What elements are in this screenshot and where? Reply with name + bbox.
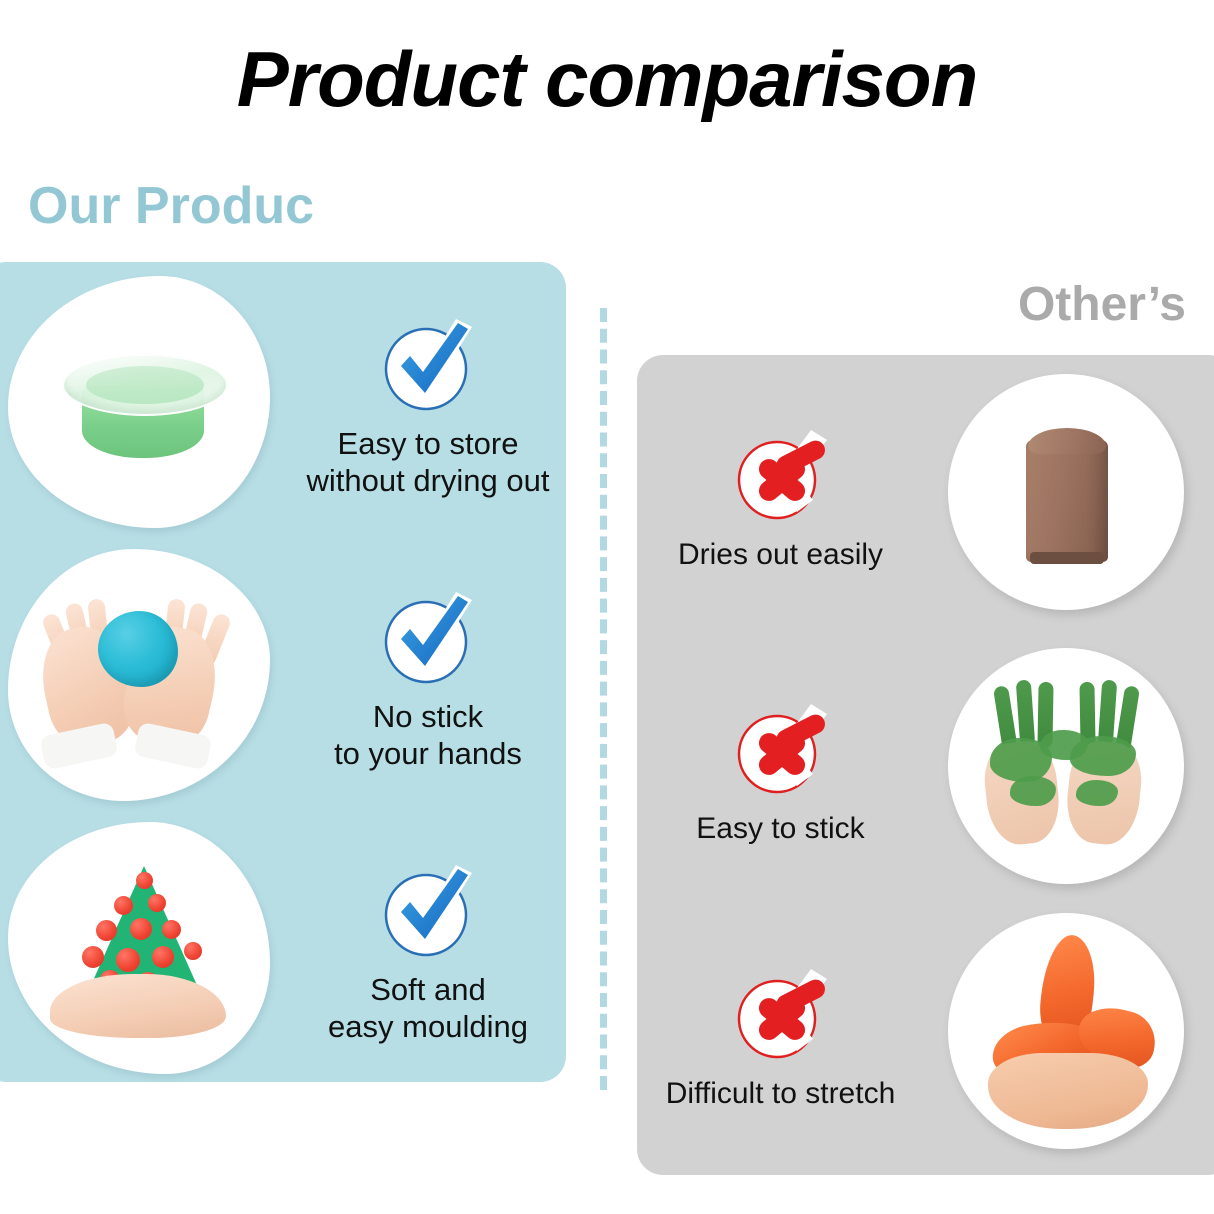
brown-clay-bag-illustration (1026, 422, 1108, 566)
blue-clay-ball (98, 611, 178, 687)
clay-christmas-tree-illustration (44, 858, 234, 1038)
others-heading: Other’s (1018, 277, 1186, 333)
our-feature-image-1 (0, 272, 290, 532)
hand (988, 1053, 1148, 1129)
our-feature-row: Soft and easy moulding (0, 818, 566, 1078)
white-circle-frame (948, 374, 1184, 610)
other-feature-row: Dries out easily (637, 366, 1214, 622)
other-feature-row: Easy to stick (637, 640, 1214, 896)
our-feature-text-3: Soft and easy moulding (290, 851, 566, 1045)
dashed-divider (600, 308, 607, 1090)
clay-smear (1076, 780, 1118, 806)
bauble (148, 894, 166, 912)
our-product-heading: Our Produc (28, 176, 314, 236)
other-feature-image-3 (924, 903, 1214, 1163)
our-feature-text-2: No stick to your hands (290, 578, 566, 772)
clay-smear (1010, 776, 1056, 806)
bauble (96, 920, 117, 941)
bauble (152, 946, 174, 968)
hands-with-blue-clay-illustration (36, 597, 236, 761)
page-title: Product comparison (0, 36, 1214, 122)
bauble (116, 948, 140, 972)
clay-smear (1040, 730, 1088, 760)
bauble (82, 946, 104, 968)
finger (1016, 680, 1036, 747)
our-feature-image-2 (0, 545, 290, 805)
other-feature-text-2: Easy to stick (637, 690, 924, 847)
other-feature-text-1: Dries out easily (637, 416, 924, 573)
check-icon (374, 857, 482, 961)
bag-base (1030, 552, 1104, 564)
bag-top (1028, 428, 1106, 454)
other-feature-row: Difficult to stretch (637, 905, 1214, 1161)
check-icon (374, 584, 482, 688)
green-container-illustration (62, 346, 224, 464)
caption-text: Difficult to stretch (666, 1075, 896, 1112)
caption-text: Easy to store without drying out (307, 425, 550, 499)
sticky-green-hands-illustration (980, 680, 1154, 856)
cross-icon (727, 961, 835, 1065)
white-circle-frame (948, 648, 1184, 884)
cross-icon (727, 422, 835, 526)
bauble (136, 872, 153, 889)
bauble (184, 942, 202, 960)
product-comparison-infographic: Product comparison Our Produc Other’s (0, 0, 1214, 1214)
our-feature-row: Easy to store without drying out (0, 272, 566, 532)
our-feature-image-3 (0, 818, 290, 1078)
orange-clay-stretch-illustration (974, 935, 1162, 1131)
bag-body (1026, 440, 1108, 562)
check-icon (374, 311, 482, 415)
our-feature-row: No stick to your hands (0, 545, 566, 805)
other-feature-image-1 (924, 364, 1214, 624)
bauble (114, 896, 133, 915)
bauble (162, 920, 181, 939)
container-lid (62, 354, 228, 416)
other-feature-text-3: Difficult to stretch (637, 955, 924, 1112)
bauble (130, 918, 152, 940)
container-lid-inner (86, 366, 204, 404)
white-circle-frame (948, 913, 1184, 1149)
caption-text: Easy to stick (696, 810, 864, 847)
cross-icon (727, 696, 835, 800)
other-feature-image-2 (924, 638, 1214, 898)
caption-text: No stick to your hands (334, 698, 522, 772)
caption-text: Dries out easily (678, 536, 883, 573)
our-feature-text-1: Easy to store without drying out (290, 305, 566, 499)
caption-text: Soft and easy moulding (328, 971, 528, 1045)
